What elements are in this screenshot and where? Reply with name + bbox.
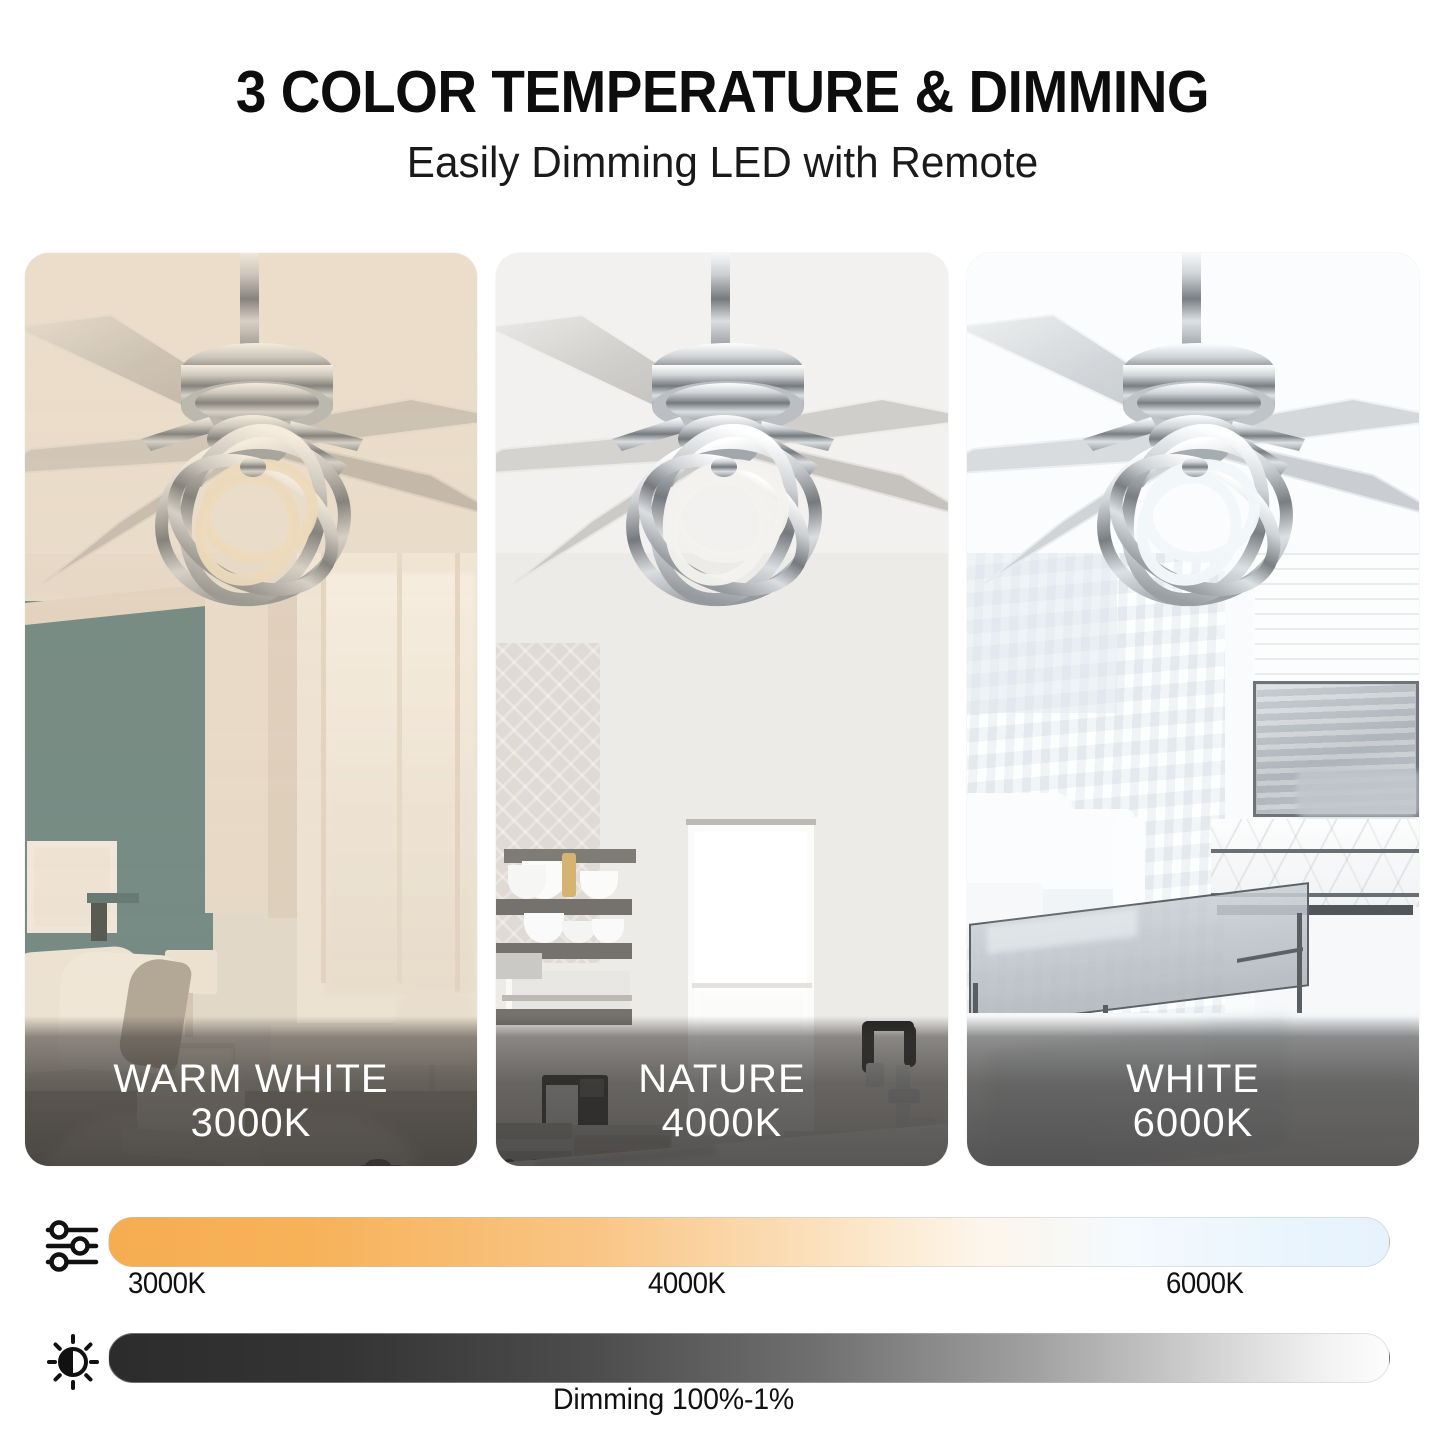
- dimming-bar[interactable]: [108, 1333, 1390, 1383]
- page-subtitle: Easily Dimming LED with Remote: [29, 138, 1416, 188]
- tick-6000k: 6000K: [1166, 1267, 1244, 1301]
- control-bars: 3000K 4000K 6000K: [0, 1205, 1445, 1445]
- caption-name: WARM WHITE: [113, 1058, 388, 1101]
- panel-caption-white: WHITE 6000K: [967, 1016, 1419, 1166]
- tick-4000k: 4000K: [648, 1267, 726, 1301]
- caption-kelvin: 3000K: [191, 1101, 312, 1146]
- brightness-half-icon: [42, 1333, 104, 1391]
- color-temperature-bar[interactable]: [108, 1217, 1390, 1267]
- panel-caption-warm-white: WARM WHITE 3000K: [25, 1016, 477, 1166]
- caption-kelvin: 4000K: [662, 1101, 783, 1146]
- panel-caption-nature: NATURE 4000K: [496, 1016, 948, 1166]
- caption-kelvin: 6000K: [1133, 1101, 1254, 1146]
- sliders-icon: [42, 1217, 104, 1275]
- panel-white: WHITE 6000K: [967, 253, 1419, 1166]
- panel-nature: NATURE 4000K: [496, 253, 948, 1166]
- page-title: 3 COLOR TEMPERATURE & DIMMING: [51, 58, 1395, 126]
- tick-3000k: 3000K: [128, 1267, 206, 1301]
- caption-name: WHITE: [1126, 1058, 1260, 1101]
- dimming-label: Dimming 100%-1%: [553, 1383, 794, 1417]
- panel-warm-white: WARM WHITE 3000K: [25, 253, 477, 1166]
- scene-panels: WARM WHITE 3000K: [25, 253, 1420, 1166]
- infographic-page: 3 COLOR TEMPERATURE & DIMMING Easily Dim…: [0, 0, 1445, 1445]
- caption-name: NATURE: [638, 1058, 805, 1101]
